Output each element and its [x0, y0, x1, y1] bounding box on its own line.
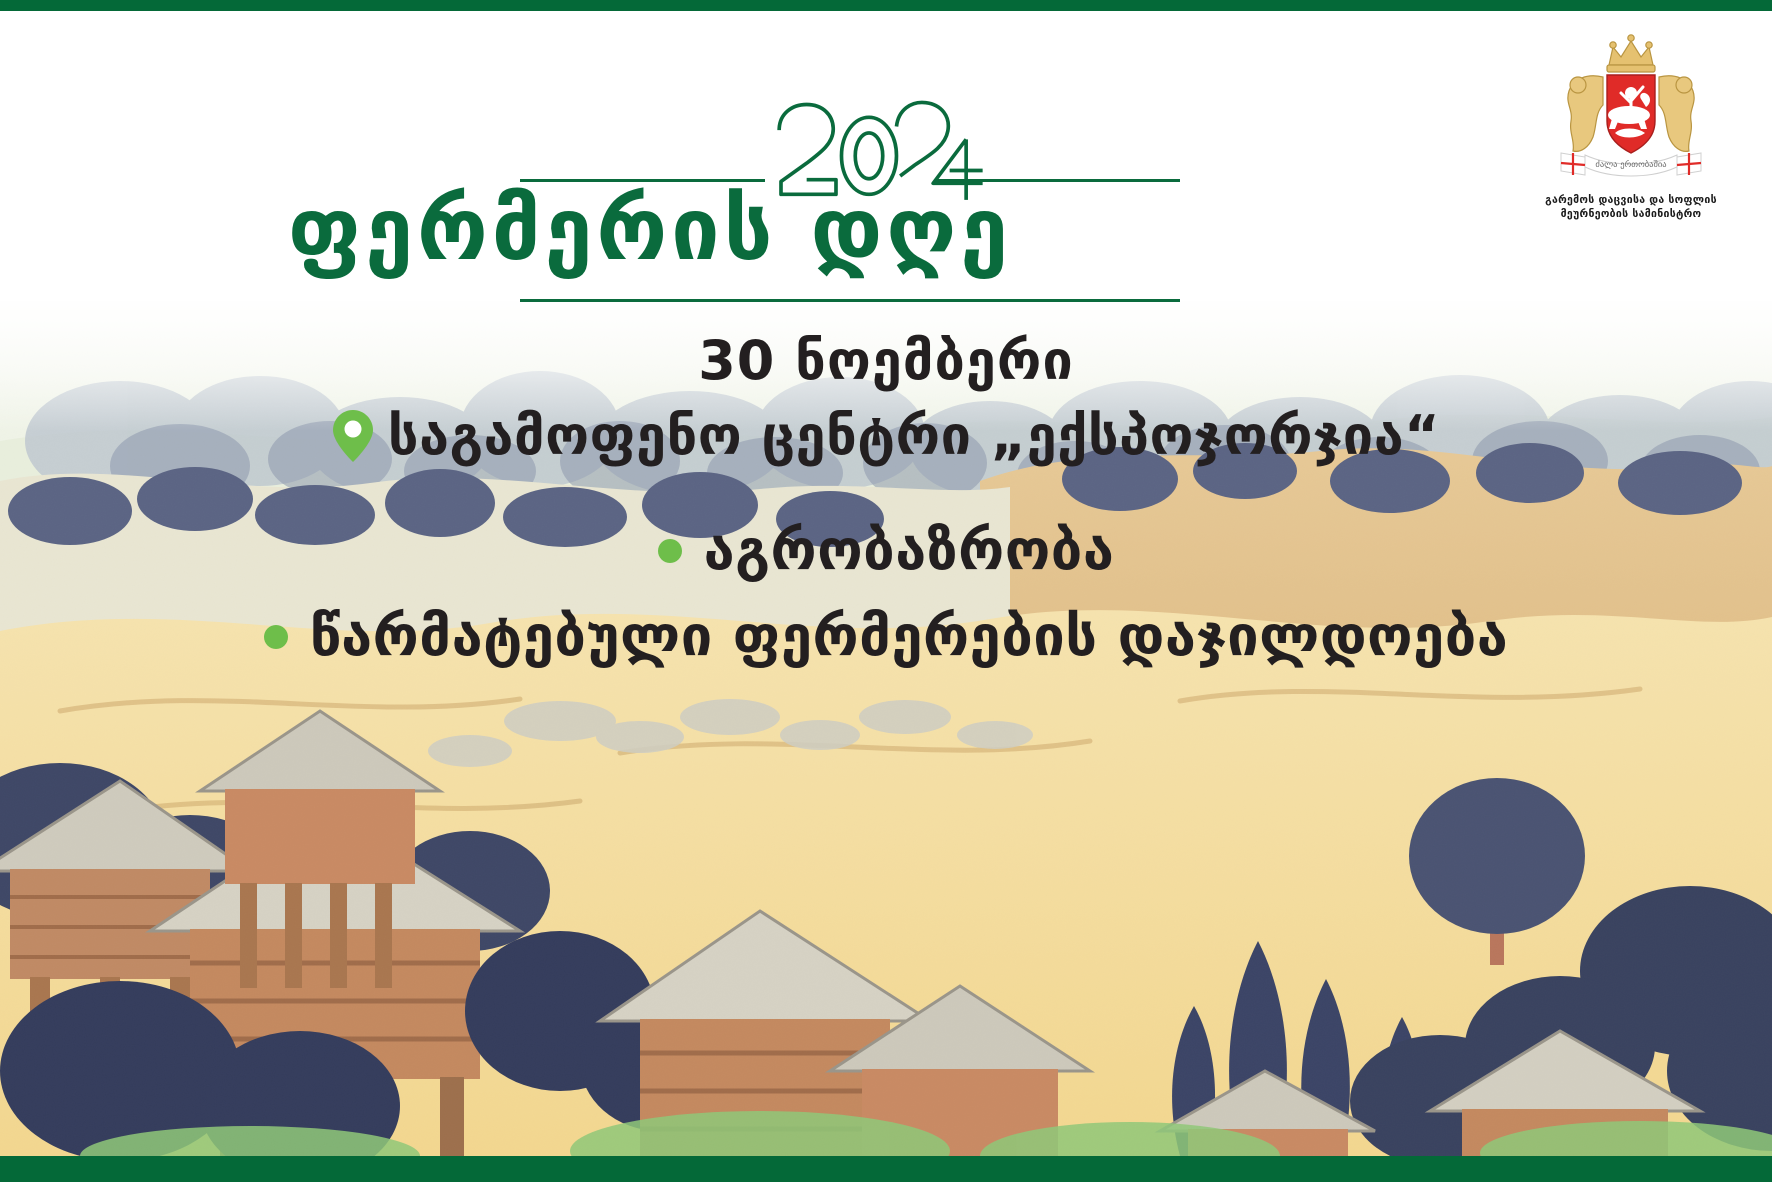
title-underline — [520, 299, 1180, 302]
poster: ფერმერის დღე — [0, 0, 1772, 1182]
event-venue-label: საგამოფენო ცენტრი „ექსპოჯორჯია“ — [388, 404, 1440, 468]
bullet-dot-icon — [658, 539, 682, 563]
ministry-name: გარემოს დაცვისა და სოფლის მეურნეობის სამ… — [1526, 193, 1736, 221]
ministry-logo-block: ძალა ერთობაშია გარემოს დაცვისა და სოფლის… — [1526, 29, 1736, 259]
georgia-coat-of-arms-icon: ძალა ერთობაშია — [1551, 29, 1711, 189]
event-program-list: აგრობაზრობა წარმატებული ფერმერების დაჯილ… — [0, 516, 1772, 672]
map-pin-icon — [332, 409, 374, 463]
list-item-label: აგრობაზრობა — [704, 516, 1115, 586]
bottom-green-bar — [0, 1156, 1772, 1182]
list-item: წარმატებული ფერმერების დაჯილდოება — [0, 602, 1772, 672]
top-green-bar — [0, 0, 1772, 11]
event-date: 30 ნოემბერი — [0, 330, 1772, 392]
ministry-line-2: მეურნეობის სამინისტრო — [1526, 207, 1736, 221]
ministry-line-1: გარემოს დაცვისა და სოფლის — [1526, 193, 1736, 207]
list-item: აგრობაზრობა — [0, 516, 1772, 586]
title-lockup: ფერმერის დღე — [0, 11, 1300, 301]
event-venue-row: საგამოფენო ცენტრი „ექსპოჯორჯია“ — [0, 404, 1772, 468]
list-item-label: წარმატებული ფერმერების დაჯილდოება — [310, 602, 1509, 672]
page-title: ფერმერის დღე — [0, 187, 1300, 273]
svg-text:ძალა ერთობაშია: ძალა ერთობაშია — [1595, 159, 1666, 170]
bullet-dot-icon — [264, 625, 288, 649]
header: ფერმერის დღე — [0, 11, 1772, 301]
event-details: 30 ნოემბერი საგამოფენო ცენტრი „ექსპოჯორჯ… — [0, 330, 1772, 688]
